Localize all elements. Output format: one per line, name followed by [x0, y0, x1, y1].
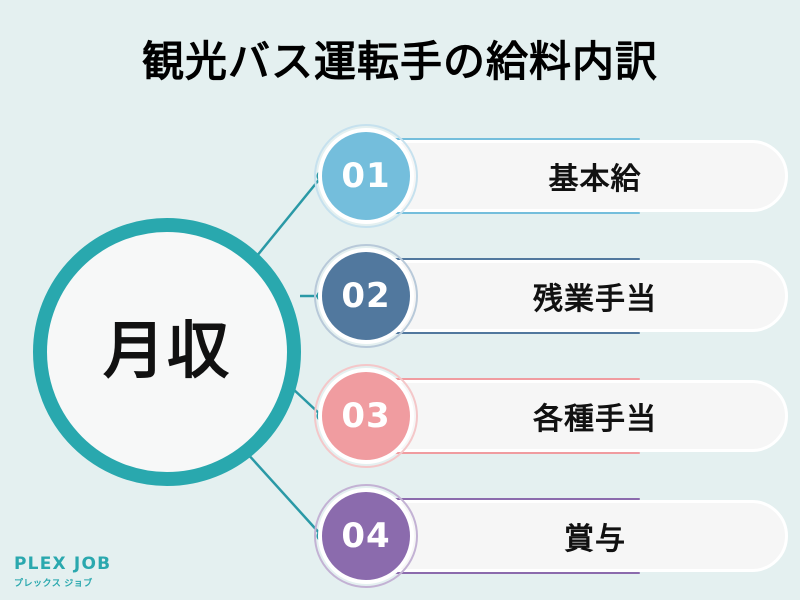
item-label: 残業手当: [487, 274, 657, 318]
list-item[interactable]: 各種手当 03: [318, 368, 788, 464]
brand-logo-kana: プレックス ジョブ: [14, 576, 111, 589]
item-number-bubble: 03: [318, 368, 414, 464]
item-number-bubble: 01: [318, 128, 414, 224]
item-label: 基本給: [503, 154, 642, 198]
item-number: 04: [341, 516, 390, 556]
item-number: 02: [341, 276, 390, 316]
item-number-bubble: 04: [318, 488, 414, 584]
list-item[interactable]: 賞与 04: [318, 488, 788, 584]
hub-label: 月収: [103, 321, 231, 383]
connector-line-1: [252, 176, 322, 262]
hub-circle: 月収: [33, 218, 301, 486]
infographic-canvas: 観光バス運転手の給料内訳 月収 基本給 01 残業手当 02: [0, 0, 800, 600]
list-item[interactable]: 残業手当 02: [318, 248, 788, 344]
item-card: 基本給: [356, 140, 788, 212]
list-item[interactable]: 基本給 01: [318, 128, 788, 224]
item-number-bubble: 02: [318, 248, 414, 344]
item-number: 03: [341, 396, 390, 436]
item-label: 各種手当: [487, 394, 657, 438]
item-card: 各種手当: [356, 380, 788, 452]
item-card: 残業手当: [356, 260, 788, 332]
item-number: 01: [341, 156, 390, 196]
item-card: 賞与: [356, 500, 788, 572]
item-label: 賞与: [518, 514, 626, 558]
connector-line-4: [246, 452, 322, 536]
brand-logo-name: PLEX JOB: [14, 556, 111, 574]
brand-logo: PLEX JOB プレックス ジョブ: [14, 556, 111, 589]
